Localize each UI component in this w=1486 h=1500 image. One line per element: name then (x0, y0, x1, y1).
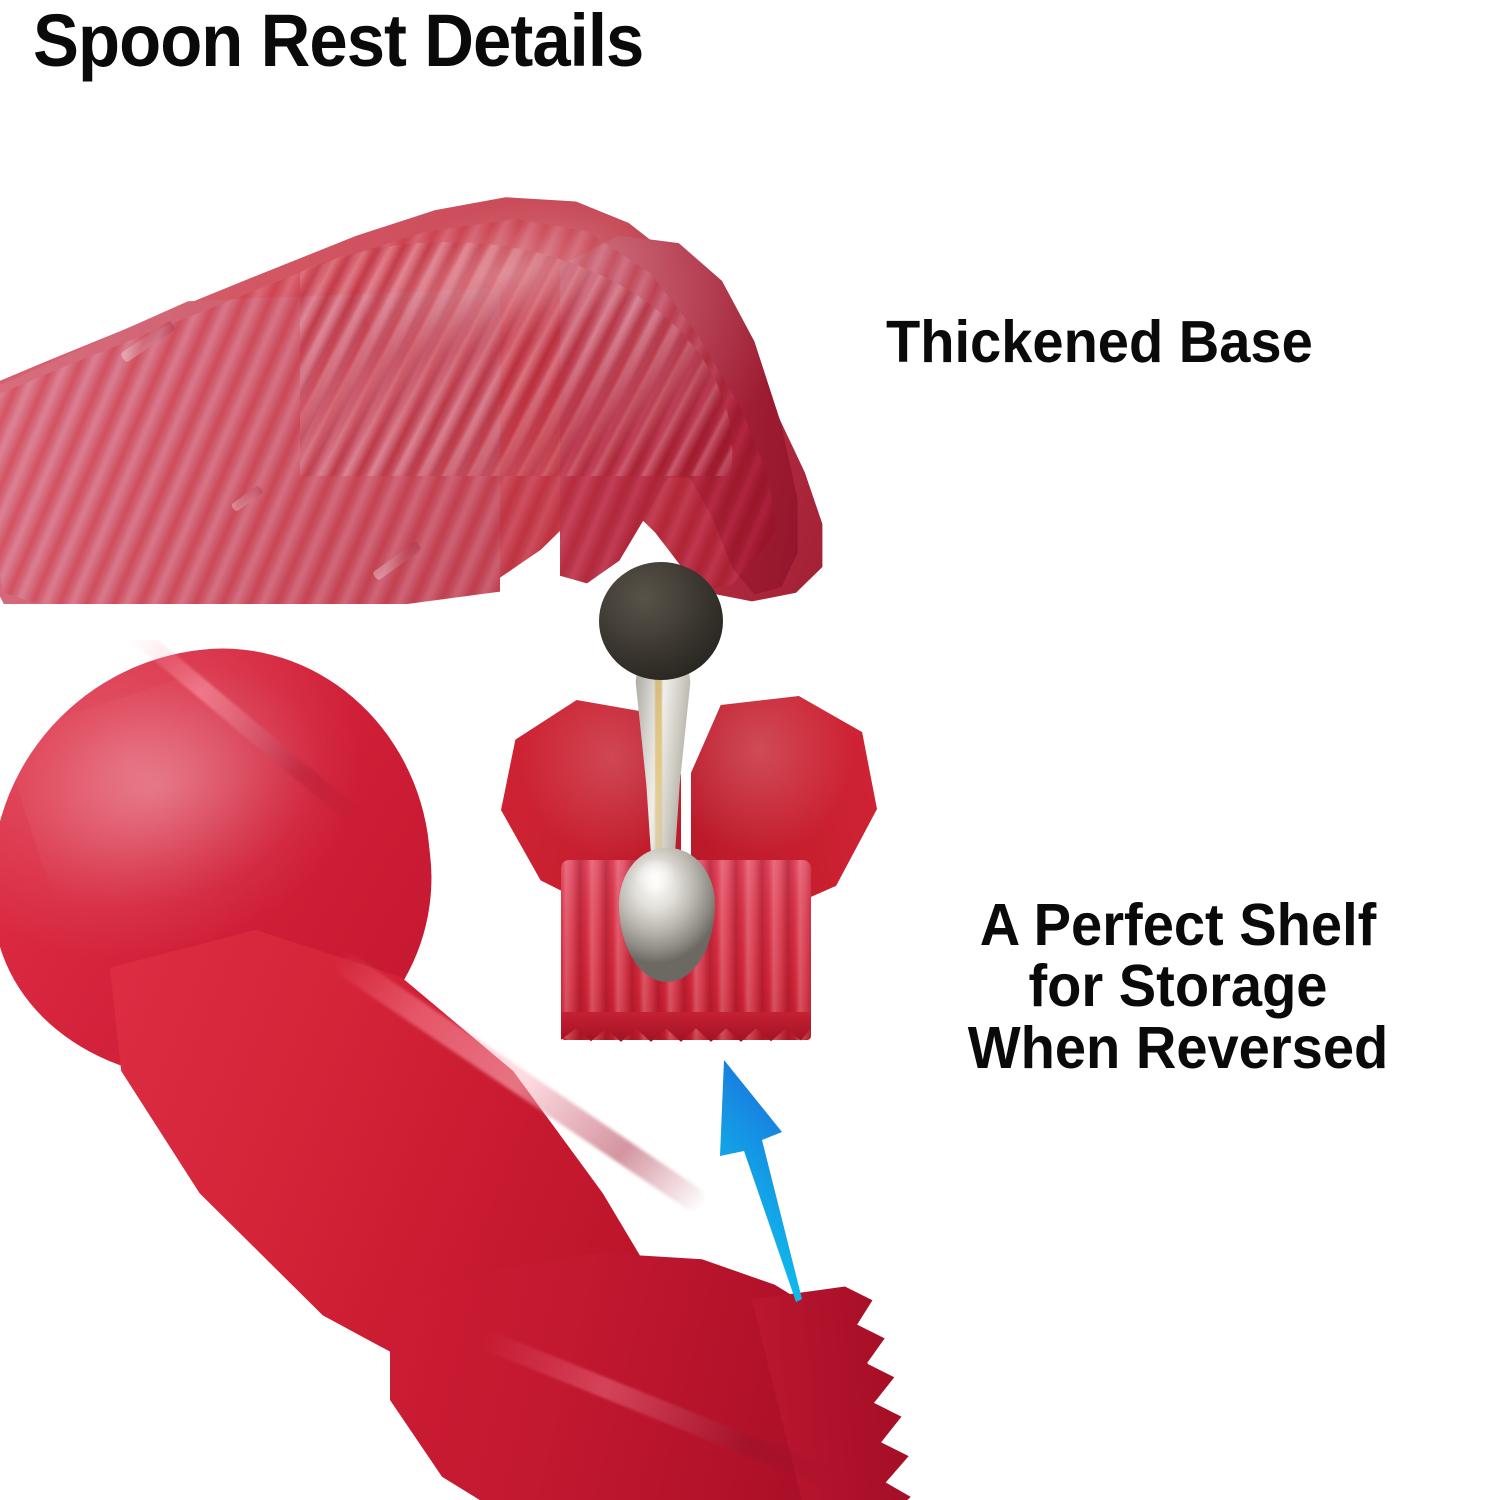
callout-perfect-shelf: A Perfect Shelf for Storage When Reverse… (872, 895, 1484, 1079)
spoon-bowl-highlight (635, 860, 679, 900)
spoon-handle-knob (599, 562, 723, 680)
holder-serrated-edge (561, 1012, 811, 1046)
callout-thickened-base: Thickened Base (886, 312, 1450, 373)
page-title: Spoon Rest Details (33, 4, 643, 78)
storage-pointer-arrow (690, 1050, 880, 1350)
callout-line: for Storage (887, 956, 1468, 1017)
infographic-canvas: Spoon Rest Details (0, 0, 1486, 1500)
callout-line: A Perfect Shelf (887, 895, 1468, 956)
ribbed-base-image (0, 168, 830, 604)
arrow-shape (720, 1060, 802, 1302)
callout-line: When Reversed (887, 1018, 1468, 1079)
spoon-in-reversed-rest-image (495, 560, 885, 1060)
